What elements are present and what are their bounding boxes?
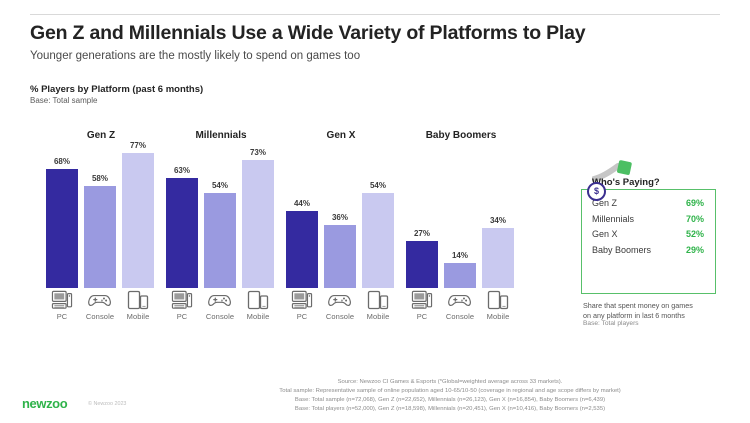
- callout-table: Gen Z69%Millennials70%Gen X52%Baby Boome…: [592, 198, 704, 260]
- platform-icon-slot: PC: [166, 290, 198, 321]
- bar-value-label: 34%: [476, 216, 520, 225]
- callout-row: Gen X52%: [592, 229, 704, 239]
- mobile-icon: [367, 290, 389, 310]
- bar[interactable]: [84, 186, 116, 288]
- bar-slot: 44%: [286, 148, 318, 288]
- platform-icon-row: PCConsoleMobile: [396, 290, 526, 330]
- footnote-total-sample: Total sample: Representative sample of o…: [150, 387, 750, 396]
- callout-row: Baby Boomers29%: [592, 245, 704, 255]
- callout-row-value: 69%: [686, 198, 704, 208]
- platform-icon-slot: Mobile: [122, 290, 154, 321]
- bar-group-plot: 68%58%77%: [36, 148, 166, 288]
- callout-row: Millennials70%: [592, 214, 704, 224]
- bar-slot: 34%: [482, 148, 514, 288]
- platform-icon-slot: Console: [204, 290, 236, 321]
- callout-caption-line2: on any platform in last 6 months: [583, 311, 728, 321]
- callout-caption-base: Base: Total players: [583, 320, 728, 329]
- bar-value-label: 14%: [438, 251, 482, 260]
- footnote-base-players: Base: Total players (n=52,000), Gen Z (n…: [150, 405, 750, 414]
- bar-value-label: 68%: [40, 157, 84, 166]
- bar[interactable]: [46, 169, 78, 288]
- callout-row-label: Baby Boomers: [592, 245, 651, 255]
- platform-label: Console: [444, 312, 476, 321]
- callout-caption-line1: Share that spent money on games: [583, 301, 728, 311]
- platform-icon-slot: PC: [46, 290, 78, 321]
- callout-row-value: 29%: [686, 245, 704, 255]
- bar-slot: 73%: [242, 148, 274, 288]
- console-icon: [208, 290, 232, 310]
- callout-row-value: 70%: [686, 214, 704, 224]
- bar[interactable]: [166, 178, 198, 288]
- callout-row-label: Millennials: [592, 214, 634, 224]
- footnotes: Source: Newzoo CI Games & Esports (*Glob…: [150, 378, 750, 415]
- pc-icon: [51, 290, 73, 310]
- platform-label: Mobile: [122, 312, 154, 321]
- bar-slot: 54%: [362, 148, 394, 288]
- platform-label: Mobile: [242, 312, 274, 321]
- bar-group: Gen X44%36%54%PCConsoleMobile: [276, 130, 406, 330]
- bar-value-label: 36%: [318, 213, 362, 222]
- bar-slot: 27%: [406, 148, 438, 288]
- mobile-icon: [487, 290, 509, 310]
- bar-group: Gen Z68%58%77%PCConsoleMobile: [36, 130, 166, 330]
- bar[interactable]: [406, 241, 438, 288]
- platform-icon-row: PCConsoleMobile: [156, 290, 286, 330]
- bar-slot: 58%: [84, 148, 116, 288]
- platform-icon-row: PCConsoleMobile: [36, 290, 166, 330]
- bar-group-title: Gen X: [276, 130, 406, 141]
- bar-group: Baby Boomers27%14%34%PCConsoleMobile: [396, 130, 526, 330]
- platform-icon-slot: Console: [84, 290, 116, 321]
- mobile-icon: [127, 290, 149, 310]
- mobile-icon: [247, 290, 269, 310]
- platform-label: PC: [46, 312, 78, 321]
- grouped-bar-chart: Gen Z68%58%77%PCConsoleMobileMillennials…: [18, 130, 558, 330]
- bar[interactable]: [444, 263, 476, 288]
- chart-kicker: % Players by Platform (past 6 months): [30, 84, 203, 95]
- bar-slot: 54%: [204, 148, 236, 288]
- footnote-source: Source: Newzoo CI Games & Esports (*Glob…: [150, 378, 750, 387]
- bar[interactable]: [122, 153, 154, 288]
- bar-value-label: 27%: [400, 229, 444, 238]
- whos-paying-callout: $ Who's Paying? Gen Z69%Millennials70%Ge…: [578, 160, 728, 340]
- platform-label: PC: [286, 312, 318, 321]
- newzoo-logo: newzoo: [22, 396, 67, 411]
- platform-icon-row: PCConsoleMobile: [276, 290, 406, 330]
- bar-group-title: Gen Z: [36, 130, 166, 141]
- platform-label: Console: [84, 312, 116, 321]
- bar-value-label: 54%: [356, 181, 400, 190]
- callout-caption: Share that spent money on games on any p…: [583, 301, 728, 329]
- pc-icon: [291, 290, 313, 310]
- bar[interactable]: [204, 193, 236, 288]
- platform-icon-slot: Console: [444, 290, 476, 321]
- console-icon: [448, 290, 472, 310]
- platform-icon-slot: Console: [324, 290, 356, 321]
- platform-label: PC: [406, 312, 438, 321]
- bar[interactable]: [362, 193, 394, 288]
- callout-row: Gen Z69%: [592, 198, 704, 208]
- console-icon: [88, 290, 112, 310]
- callout-row-label: Gen X: [592, 229, 618, 239]
- platform-label: Console: [204, 312, 236, 321]
- page-subtitle: Younger generations are the mostly likel…: [30, 50, 710, 62]
- bar-value-label: 77%: [116, 141, 160, 150]
- chart-kicker-base: Base: Total sample: [30, 96, 97, 105]
- bar[interactable]: [242, 160, 274, 288]
- bar-value-label: 63%: [160, 166, 204, 175]
- platform-icon-slot: Mobile: [362, 290, 394, 321]
- bar[interactable]: [482, 228, 514, 288]
- platform-icon-slot: Mobile: [482, 290, 514, 321]
- bar-group-title: Baby Boomers: [396, 130, 526, 141]
- pc-icon: [171, 290, 193, 310]
- page-title: Gen Z and Millennials Use a Wide Variety…: [30, 22, 710, 45]
- bar-group-plot: 44%36%54%: [276, 148, 406, 288]
- coin-symbol: $: [594, 187, 599, 196]
- copyright-text: © Newzoo 2023: [88, 401, 126, 407]
- footnote-base-sample: Base: Total sample (n=72,068), Gen Z (n=…: [150, 396, 750, 405]
- bar-group-plot: 27%14%34%: [396, 148, 526, 288]
- bar-slot: 68%: [46, 148, 78, 288]
- bar-value-label: 58%: [78, 174, 122, 183]
- bar-value-label: 73%: [236, 148, 280, 157]
- bar[interactable]: [286, 211, 318, 288]
- bar-group-plot: 63%54%73%: [156, 148, 286, 288]
- platform-icon-slot: PC: [406, 290, 438, 321]
- bar-slot: 77%: [122, 148, 154, 288]
- header-divider: [30, 14, 720, 15]
- pc-icon: [411, 290, 433, 310]
- coin-dollar-icon: $: [587, 182, 606, 201]
- platform-label: Mobile: [362, 312, 394, 321]
- platform-label: Mobile: [482, 312, 514, 321]
- bar-slot: 36%: [324, 148, 356, 288]
- platform-icon-slot: PC: [286, 290, 318, 321]
- bar-group-title: Millennials: [156, 130, 286, 141]
- platform-icon-slot: Mobile: [242, 290, 274, 321]
- bar-slot: 63%: [166, 148, 198, 288]
- bar-value-label: 44%: [280, 199, 324, 208]
- console-icon: [328, 290, 352, 310]
- callout-row-value: 52%: [686, 229, 704, 239]
- platform-label: Console: [324, 312, 356, 321]
- bar-value-label: 54%: [198, 181, 242, 190]
- platform-label: PC: [166, 312, 198, 321]
- slide-root: Gen Z and Millennials Use a Wide Variety…: [0, 0, 750, 423]
- bar[interactable]: [324, 225, 356, 288]
- bar-group: Millennials63%54%73%PCConsoleMobile: [156, 130, 286, 330]
- bar-slot: 14%: [444, 148, 476, 288]
